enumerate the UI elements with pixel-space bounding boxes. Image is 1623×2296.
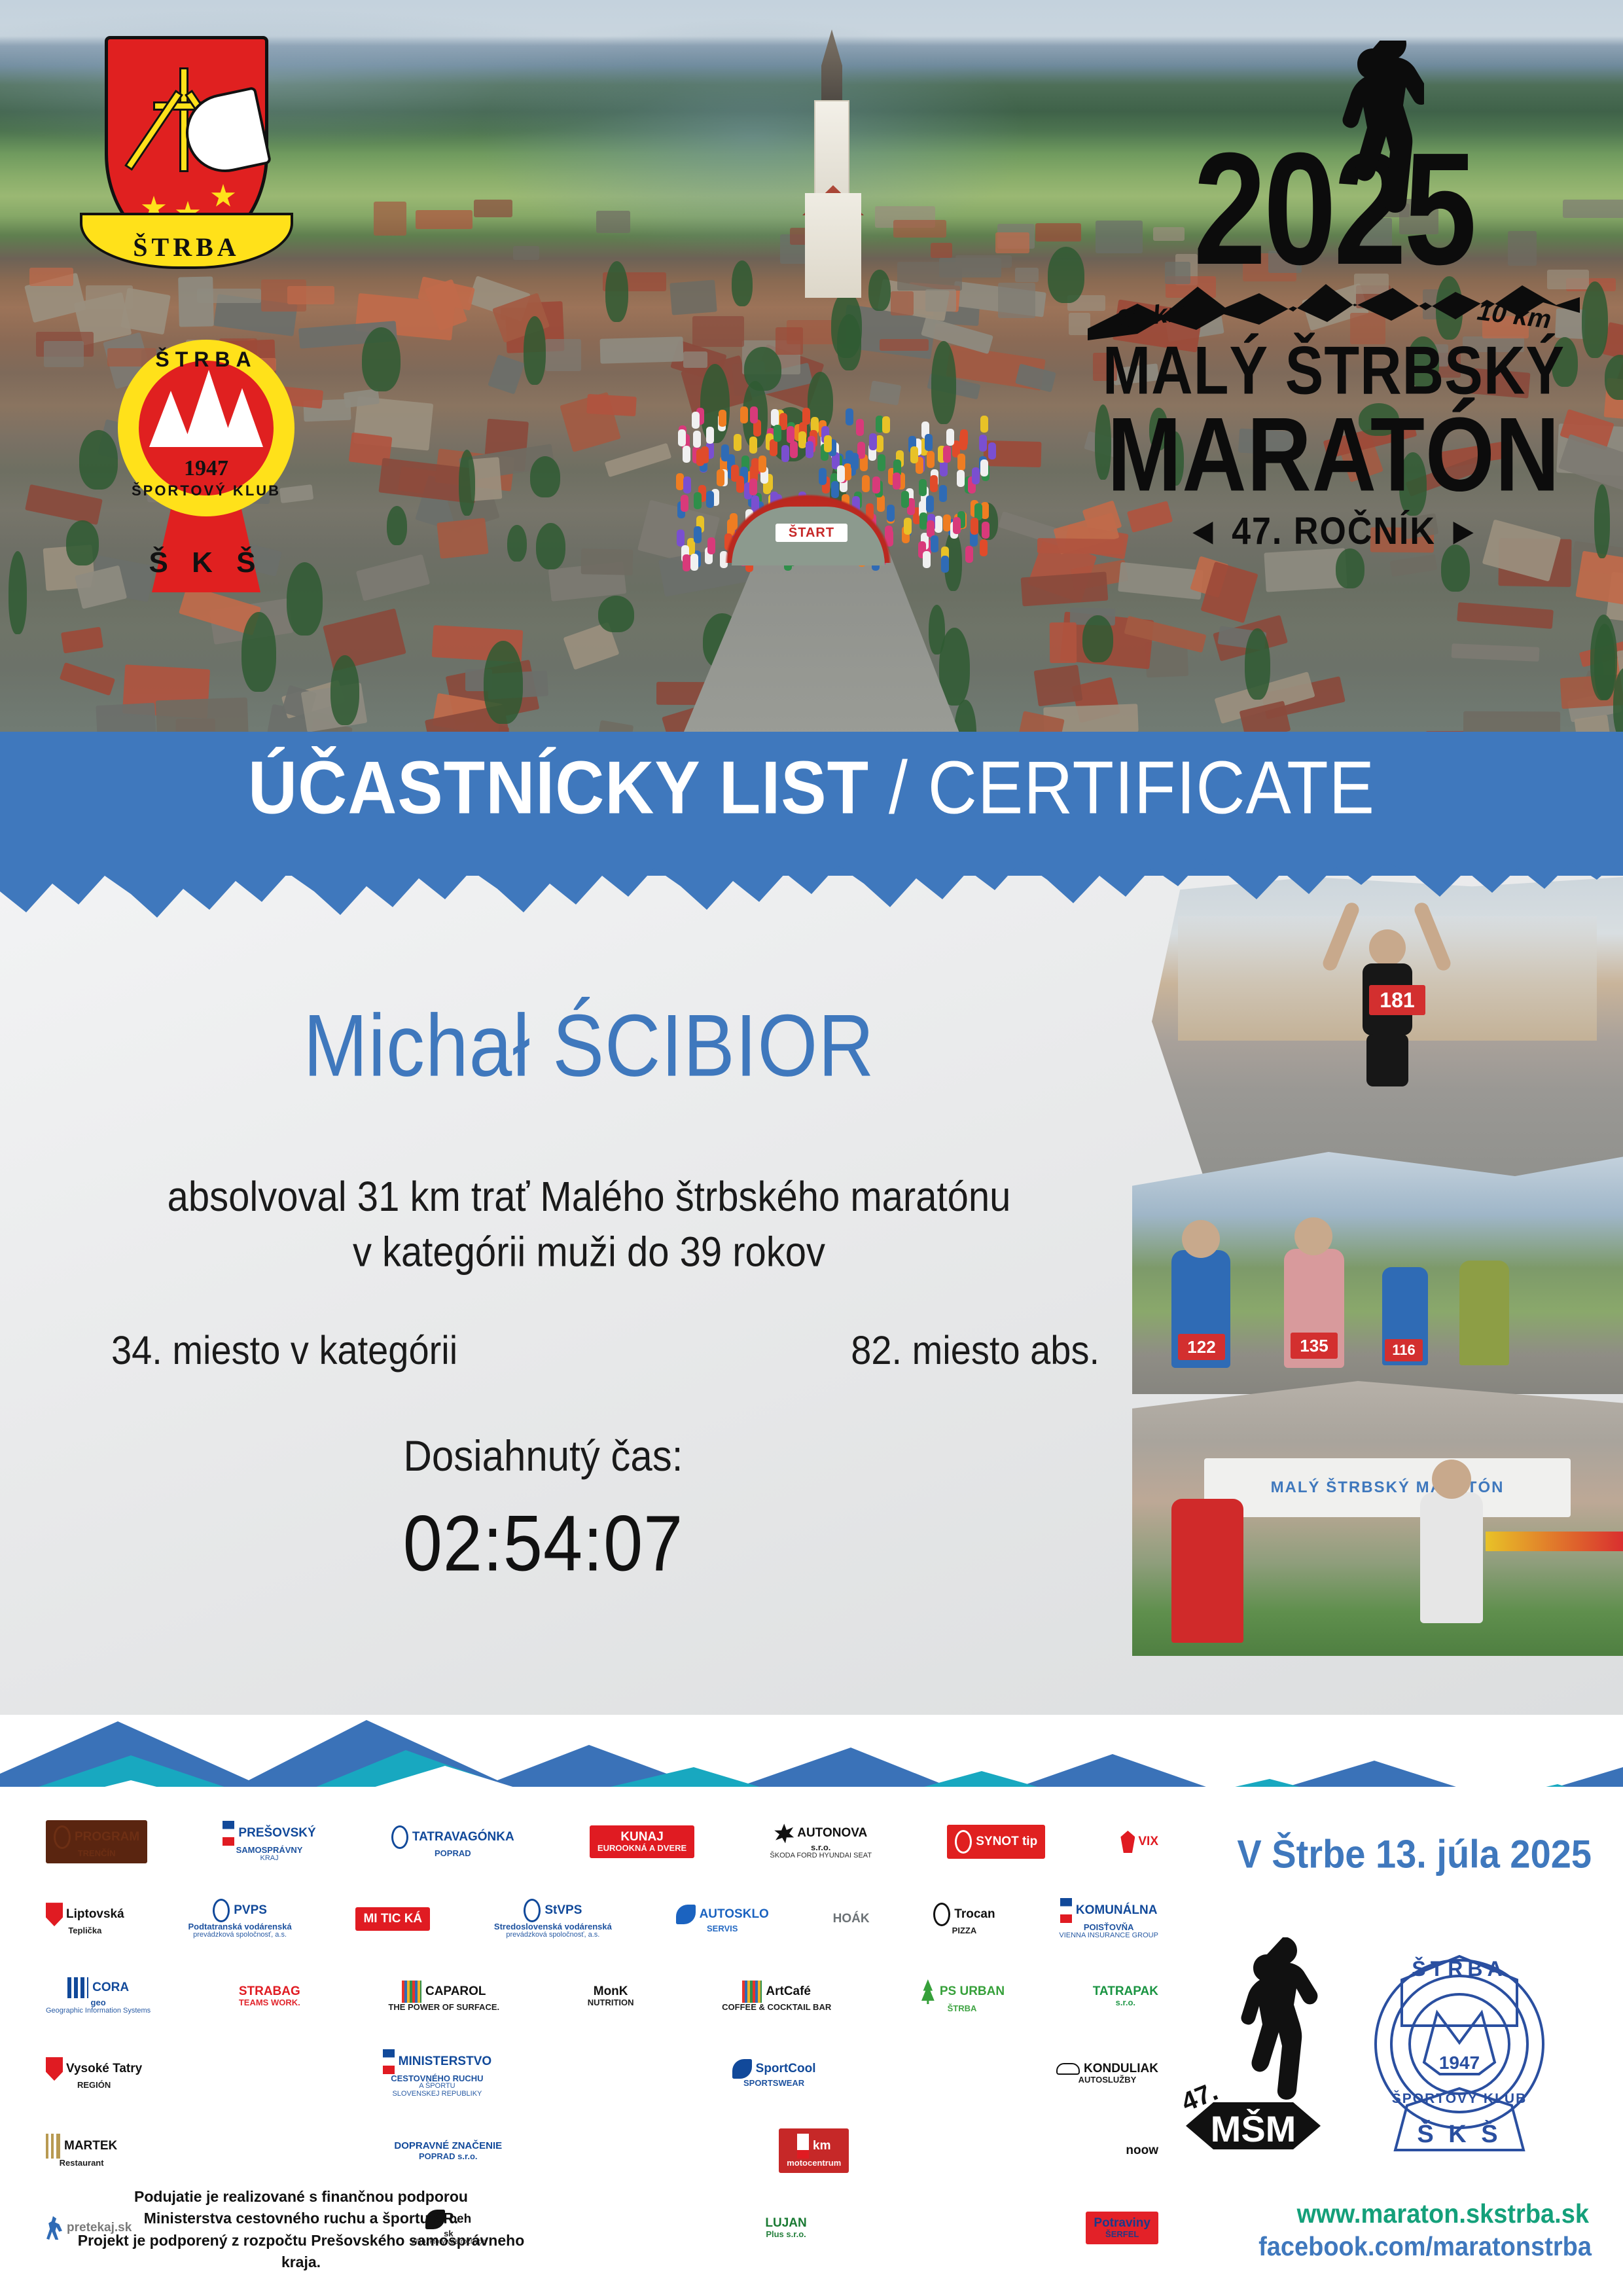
club-abbrev: Š K Š <box>111 547 301 579</box>
mountain-peaks-icon <box>149 368 263 447</box>
certificate-place-date: V Štrbe 13. júla 2025 <box>1237 1831 1592 1876</box>
sponsor-logo[interactable]: PS URBANŠTRBA <box>919 1979 1005 2013</box>
sponsor-logo[interactable]: noow <box>1126 2144 1158 2157</box>
sponsor-name: DOPRAVNÉ ZNAČENIE <box>394 2140 502 2151</box>
stripe-mark-icon <box>402 1981 421 2003</box>
burst-mark-icon <box>774 1823 794 1843</box>
runner-bib: 116 <box>1385 1339 1423 1361</box>
finish-time: 02:54:07 <box>79 1498 1008 1589</box>
photo-finish-line: MALÝ ŠTRBSKÝ MARATÓN <box>1132 1381 1623 1656</box>
description-line1: absolvoval 31 km trať Malého štrbského m… <box>79 1170 1099 1225</box>
swoosh-mark-icon <box>676 1905 696 1924</box>
sponsor-logo[interactable]: PROGRAMTRENČÍN <box>46 1820 147 1863</box>
sponsor-row: MARTEKRestaurant DOPRAVNÉ ZNAČENIEPOPRAD… <box>46 2112 1158 2189</box>
sponsor-sub: motocentrum <box>787 2159 841 2168</box>
sponsor-name: PREŠOVSKÝ <box>238 1826 315 1840</box>
sponsor-name: noow <box>1126 2144 1158 2157</box>
sponsor-logo[interactable]: PVPSPodtatranská vodárenskáprevádzková s… <box>188 1899 291 1939</box>
msm-abbrev-text: MŠM <box>1211 2108 1296 2149</box>
sponsor-logo[interactable]: AUTONOVAs.r.o.ŠKODA FORD HYUNDAI SEAT <box>770 1823 872 1859</box>
sponsor-name: KONDULIAK <box>1084 2062 1158 2075</box>
sponsor-sub: Podtatranská vodárenská <box>188 1922 291 1931</box>
sponsor-sub: s.r.o. <box>770 1843 872 1852</box>
strba-coat-of-arms: ŠTRBA <box>105 36 268 252</box>
sponsor-sub: TEAMS WORK. <box>239 1998 300 2007</box>
sponsor-name: ArtCafé <box>766 1984 811 1998</box>
church-building <box>802 29 861 278</box>
sponsor-sub: SPORTSWEAR <box>732 2079 816 2088</box>
sponsor-logo[interactable]: SportCoolSPORTSWEAR <box>732 2059 816 2088</box>
sponsor-sub: POPRAD <box>391 1849 514 1858</box>
sponsor-logo[interactable]: TATRAVAGÓNKAPOPRAD <box>391 1825 514 1858</box>
sponsor-sub: Restaurant <box>46 2159 117 2168</box>
sponsor-name: km <box>813 2139 830 2153</box>
sponsor-sub: Plus s.r.o. <box>765 2230 806 2239</box>
sponsor-name: AUTONOVA <box>797 1826 867 1840</box>
sponsor-name: PROGRAM <box>75 1830 139 1844</box>
sponsor-row: PROGRAMTRENČÍN PREŠOVSKÝSAMOSPRÁVNYKRAJ … <box>46 1803 1158 1880</box>
sponsor-name: CORA <box>92 1981 129 1994</box>
sponsor-logo[interactable]: KUNAJEUROOKNÁ A DVERE <box>590 1825 694 1858</box>
swoosh-mark-icon <box>732 2059 752 2079</box>
sponsor-logo[interactable]: kmmotocentrum <box>779 2128 849 2173</box>
distance-10km: 10 km <box>1475 296 1552 334</box>
sponsor-sub2: prevádzková spoločnosť, a.s. <box>494 1931 612 1939</box>
sponsor-logo[interactable]: PREŠOVSKÝSAMOSPRÁVNYKRAJ <box>223 1821 315 1862</box>
sponsor-sub2: ŠKODA FORD HYUNDAI SEAT <box>770 1852 872 1860</box>
place-absolute: 82. miesto abs. <box>851 1327 1099 1374</box>
oval-mark-icon <box>955 1830 972 1854</box>
stamp-mid-text: ŠPORTOVÝ KLUB <box>1392 2090 1527 2106</box>
start-label: ŠTART <box>776 524 847 542</box>
sponsor-sub: THE POWER OF SURFACE. <box>388 2003 499 2012</box>
sponsor-sub2: prevádzková spoločnosť, a.s. <box>188 1931 291 1939</box>
sponsor-logo[interactable]: LUJANPlus s.r.o. <box>765 2217 806 2239</box>
stamp-bottom-text: Š K Š <box>1417 2119 1501 2148</box>
sponsor-sub: Stredoslovenská vodárenská <box>494 1922 612 1931</box>
sponsor-logo[interactable]: VIX <box>1120 1831 1158 1853</box>
sponsor-logo[interactable]: CORAgeoGeographic Information Systems <box>46 1977 151 2015</box>
runner-bib: 181 <box>1369 985 1425 1015</box>
runner-silhouette-icon <box>1326 41 1424 322</box>
sponsor-logo[interactable]: SYNOT tip <box>947 1825 1045 1859</box>
sponsor-sub2: VIENNA INSURANCE GROUP <box>1059 1932 1158 1940</box>
placement-row: 34. miesto v kategórii 82. miesto abs. <box>98 1327 1113 1374</box>
distance-31km: 31 km <box>1115 296 1192 334</box>
sponsor-logo[interactable]: STRABAGTEAMS WORK. <box>239 1985 300 2007</box>
sponsor-sub: s.r.o. <box>1093 1998 1158 2007</box>
sponsor-name: SportCool <box>756 2062 816 2075</box>
sponsor-name: MonK <box>594 1984 628 1998</box>
stamp-top-text: ŠTRBA <box>1412 1957 1507 1981</box>
sponsor-sub: SAMOSPRÁVNY <box>223 1846 315 1855</box>
sponsor-sub: Teplička <box>46 1926 124 1935</box>
sponsor-sub: NUTRITION <box>588 1998 634 2007</box>
sponsor-logo[interactable]: KONDULIAKAUTOSLUŽBY <box>1056 2062 1158 2085</box>
oval-mark-icon <box>933 1903 950 1926</box>
sponsor-name: CAPAROL <box>425 1984 486 1998</box>
shield-mark-icon <box>1120 1831 1135 1853</box>
sks-stamp-logo: ŠTRBA 1947 ŠPORTOVÝ KLUB Š K Š <box>1361 1934 1558 2157</box>
municipality-name: ŠTRBA <box>133 232 240 266</box>
club-top-text: ŠTRBA <box>111 348 301 372</box>
certificate-description: absolvoval 31 km trať Malého štrbského m… <box>79 1170 1099 1280</box>
sponsor-name: PVPS <box>234 1903 267 1917</box>
sponsor-sub: TRENČÍN <box>54 1849 139 1858</box>
sponsor-logo[interactable]: MI TIC KÁ <box>355 1907 430 1931</box>
sponsor-logo[interactable]: Vysoké TatryREGIÓN <box>46 2057 142 2090</box>
sponsor-logo[interactable]: StVPSStredoslovenská vodárenskáprevádzko… <box>494 1899 612 1939</box>
banner-separator: / <box>869 746 928 830</box>
stamp-year-text: 1947 <box>1439 2053 1480 2073</box>
event-title-line2: MARATÓN <box>1079 402 1589 507</box>
event-edition: ◄ 47. ROČNÍK ► <box>1079 509 1589 553</box>
arrow-left-icon: ◄ <box>1186 511 1221 553</box>
description-line2: v kategórii muži do 39 rokov <box>79 1225 1099 1280</box>
distances-row: 31 km 10 km <box>1092 301 1576 331</box>
sponsor-name: StVPS <box>544 1903 582 1917</box>
sponsor-row: CORAgeoGeographic Information Systems ST… <box>46 1958 1158 2035</box>
sponsor-name: MINISTERSTVO <box>399 2054 492 2068</box>
sponsor-name: Potraviny <box>1094 2216 1150 2230</box>
flag-mark-icon <box>223 1821 234 1846</box>
website-url[interactable]: www.maraton.skstrba.sk <box>1297 2199 1589 2229</box>
runner-bib: 135 <box>1291 1333 1338 1359</box>
sponsor-name: SYNOT tip <box>976 1835 1037 1848</box>
sponsor-name: TATRAVAGÓNKA <box>412 1830 514 1844</box>
edition-label: 47. ROČNÍK <box>1232 511 1436 553</box>
sponsor-name: KOMUNÁLNA <box>1076 1903 1158 1917</box>
photo-runners-hill: 122 135 116 <box>1132 1152 1623 1394</box>
sponsor-name: MI TIC KÁ <box>363 1912 422 1926</box>
sponsor-name: PS URBAN <box>940 1984 1005 1998</box>
disclaimer-line1: Podujatie je realizované s finančnou pod… <box>65 2186 537 2208</box>
sponsor-logo[interactable]: HOÁK <box>833 1912 870 1926</box>
flag-mark-icon <box>383 2049 395 2074</box>
sponsor-sub: POISŤOVŇA <box>1059 1923 1158 1932</box>
sponsor-logo[interactable]: AUTOSKLOSERVIS <box>676 1905 769 1933</box>
sponsor-sub: SERVIS <box>676 1924 769 1933</box>
sponsor-name: Liptovská <box>66 1907 124 1921</box>
sponsor-name: AUTOSKLO <box>700 1907 769 1921</box>
club-founding-year: 1947 <box>111 456 301 481</box>
sponsor-sub: POPRAD s.r.o. <box>394 2152 502 2161</box>
club-bottom-text: ŠPORTOVÝ KLUB <box>111 482 301 499</box>
sponsor-logo[interactable]: DOPRAVNÉ ZNAČENIEPOPRAD s.r.o. <box>394 2141 502 2161</box>
msm-logo: MŠM 47. <box>1171 1937 1335 2153</box>
sponsor-sub: geo <box>46 1998 151 2007</box>
sponsor-sub: COFFEE & COCKTAIL BAR <box>722 2003 831 2012</box>
sponsor-row: LiptovskáTeplička PVPSPodtatranská vodár… <box>46 1880 1158 1958</box>
sponsor-sub: PIZZA <box>933 1926 995 1935</box>
sponsor-name: KUNAJ <box>620 1830 663 1844</box>
arrow-right-icon: ► <box>1446 511 1481 553</box>
flag-mark-icon <box>797 2134 809 2159</box>
facebook-url[interactable]: facebook.com/maratonstrba <box>1258 2232 1592 2262</box>
banner-title-sk: ÚČASTNÍCKY LIST <box>248 746 869 830</box>
church-spire <box>821 29 842 108</box>
event-title-line1: MALÝ ŠTRBSKÝ <box>1079 336 1589 404</box>
funding-disclaimer: Podujatie je realizované s finančnou pod… <box>65 2186 537 2273</box>
place-category: 34. miesto v kategórii <box>111 1327 457 1374</box>
sponsor-sub: ŠTRBA <box>919 2004 1005 2013</box>
sks-club-logo: ŠTRBA 1947 ŠPORTOVÝ KLUB Š K Š <box>111 331 301 592</box>
sponsor-sub2: Geographic Information Systems <box>46 2007 151 2015</box>
sponsor-logo[interactable]: MonKNUTRITION <box>588 1985 634 2007</box>
sponsor-logo[interactable]: LiptovskáTeplička <box>46 1903 124 1935</box>
grid-mark-icon <box>67 1977 88 1998</box>
sponsor-name: TATRAPAK <box>1093 1984 1158 1998</box>
participant-name: Michał ŚCIBIOR <box>79 995 1099 1096</box>
sponsor-row: Vysoké TatryREGIÓN MINISTERSTVOCESTOVNÉH… <box>46 2035 1158 2112</box>
sponsor-logo[interactable]: TrocanPIZZA <box>933 1903 995 1935</box>
finish-banner-text: MALÝ ŠTRBSKÝ MARATÓN <box>1204 1458 1571 1517</box>
sponsor-sub: ŠERFEL <box>1094 2230 1150 2239</box>
flag-mark-icon <box>1060 1898 1072 1923</box>
sponsor-name: HOÁK <box>833 1912 870 1926</box>
oval-mark-icon <box>213 1899 230 1922</box>
stripe-mark-icon <box>742 1981 762 2003</box>
cutlery-mark-icon <box>46 2134 60 2159</box>
sponsor-sub: AUTOSLUŽBY <box>1056 2075 1158 2085</box>
oval-mark-icon <box>54 1825 71 1849</box>
sponsor-logo[interactable]: PotravinyŠERFEL <box>1086 2212 1158 2244</box>
runner-bib: 122 <box>1178 1334 1225 1360</box>
sponsor-name: Trocan <box>954 1907 995 1921</box>
church-nave <box>805 193 861 298</box>
sponsor-logo[interactable]: KOMUNÁLNAPOISŤOVŇAVIENNA INSURANCE GROUP <box>1059 1898 1158 1939</box>
disclaimer-line3: Projekt je podporený z rozpočtu Prešovsk… <box>65 2230 537 2274</box>
sponsor-name: LUJAN <box>765 2216 806 2230</box>
sponsor-name: STRABAG <box>239 1984 300 1998</box>
car-mark-icon <box>1056 2063 1080 2075</box>
time-label: Dosiahnutý čas: <box>79 1431 1008 1481</box>
torn-paper-edge <box>0 851 1623 929</box>
oval-mark-icon <box>524 1899 541 1922</box>
crest-mark-icon <box>46 1903 63 1926</box>
sponsor-logo[interactable]: MINISTERSTVOCESTOVNÉHO RUCHUA ŠPORTUSLOV… <box>383 2049 492 2098</box>
sponsor-sub2: KRAJ <box>223 1855 315 1863</box>
crest-mark-icon <box>46 2057 63 2081</box>
disclaimer-line2: Ministerstva cestovného ruchu a športu S… <box>65 2208 537 2229</box>
sponsor-sub: REGIÓN <box>46 2081 142 2090</box>
certificate-banner-text: ÚČASTNÍCKY LIST / CERTIFICATE <box>0 745 1623 832</box>
sponsor-name: MARTEK <box>64 2139 117 2153</box>
banner-title-en: CERTIFICATE <box>928 746 1375 830</box>
photo-collage: 181 122 135 116 MALÝ ŠTRBSKÝ MARATÓN <box>1113 877 1623 1721</box>
oval-mark-icon <box>391 1825 408 1849</box>
sponsor-name: Vysoké Tatry <box>66 2062 142 2075</box>
tree-mark-icon <box>919 1979 936 2004</box>
sponsor-logo[interactable]: TATRAPAKs.r.o. <box>1093 1985 1158 2007</box>
runner-mark-icon <box>46 2216 63 2240</box>
sponsor-sub: EUROOKNÁ A DVERE <box>597 1844 687 1853</box>
sponsor-name: VIX <box>1138 1835 1158 1848</box>
sponsor-sub3: SLOVENSKEJ REPUBLIKY <box>383 2090 492 2098</box>
sponsor-logo[interactable]: CAPAROLTHE POWER OF SURFACE. <box>388 1981 499 2012</box>
sponsor-logo[interactable]: ArtCaféCOFFEE & COCKTAIL BAR <box>722 1981 831 2012</box>
sponsor-logo[interactable]: MARTEKRestaurant <box>46 2134 117 2168</box>
